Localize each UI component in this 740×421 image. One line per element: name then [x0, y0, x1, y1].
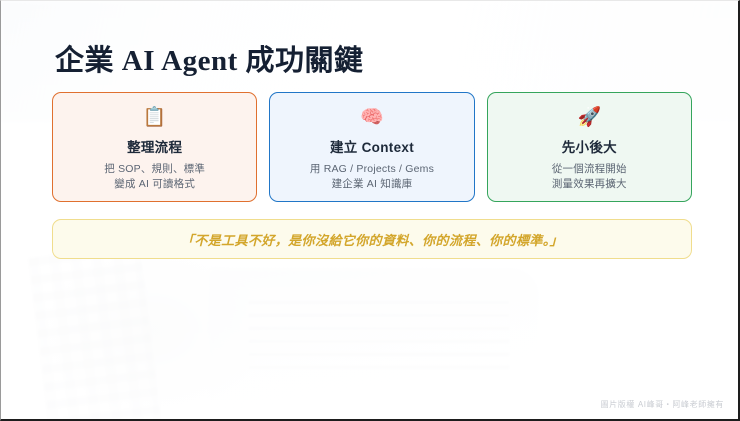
slide-canvas: 企業 AI Agent 成功關鍵 📋 整理流程 把 SOP、規則、標準 變成 A… [0, 0, 740, 421]
card-line: 從一個流程開始 [552, 162, 627, 177]
card-process-organization[interactable]: 📋 整理流程 把 SOP、規則、標準 變成 AI 可讀格式 [52, 92, 257, 202]
card-line: 變成 AI 可讀格式 [104, 177, 205, 192]
card-title: 建立 Context [330, 136, 414, 156]
card-body: 從一個流程開始 測量效果再擴大 [552, 162, 627, 192]
card-line: 測量效果再擴大 [552, 177, 627, 192]
copyright-watermark: 圖片版權 AI峰哥・阿峰老師擁有 [601, 399, 724, 410]
card-line: 把 SOP、規則、標準 [104, 162, 205, 177]
card-row: 📋 整理流程 把 SOP、規則、標準 變成 AI 可讀格式 🧠 建立 Conte… [52, 92, 692, 202]
card-line: 建企業 AI 知識庫 [310, 177, 434, 192]
card-title: 先小後大 [562, 136, 617, 156]
card-title: 整理流程 [127, 136, 182, 156]
quote-banner: 「不是工具不好，是你沒給它你的資料、你的流程、你的標準。」 [52, 219, 692, 259]
card-line: 用 RAG / Projects / Gems [310, 162, 434, 177]
card-body: 把 SOP、規則、標準 變成 AI 可讀格式 [104, 162, 205, 192]
brain-icon: 🧠 [360, 107, 384, 129]
quote-text: 「不是工具不好，是你沒給它你的資料、你的流程、你的標準。」 [181, 230, 563, 249]
page-title: 企業 AI Agent 成功關鍵 [55, 37, 363, 79]
clipboard-icon: 📋 [143, 107, 167, 129]
slide-content: 企業 AI Agent 成功關鍵 📋 整理流程 把 SOP、規則、標準 變成 A… [1, 1, 738, 419]
card-build-context[interactable]: 🧠 建立 Context 用 RAG / Projects / Gems 建企業… [269, 92, 474, 202]
rocket-icon: 🚀 [577, 107, 601, 129]
card-body: 用 RAG / Projects / Gems 建企業 AI 知識庫 [310, 162, 434, 192]
card-start-small-scale-up[interactable]: 🚀 先小後大 從一個流程開始 測量效果再擴大 [487, 92, 692, 202]
